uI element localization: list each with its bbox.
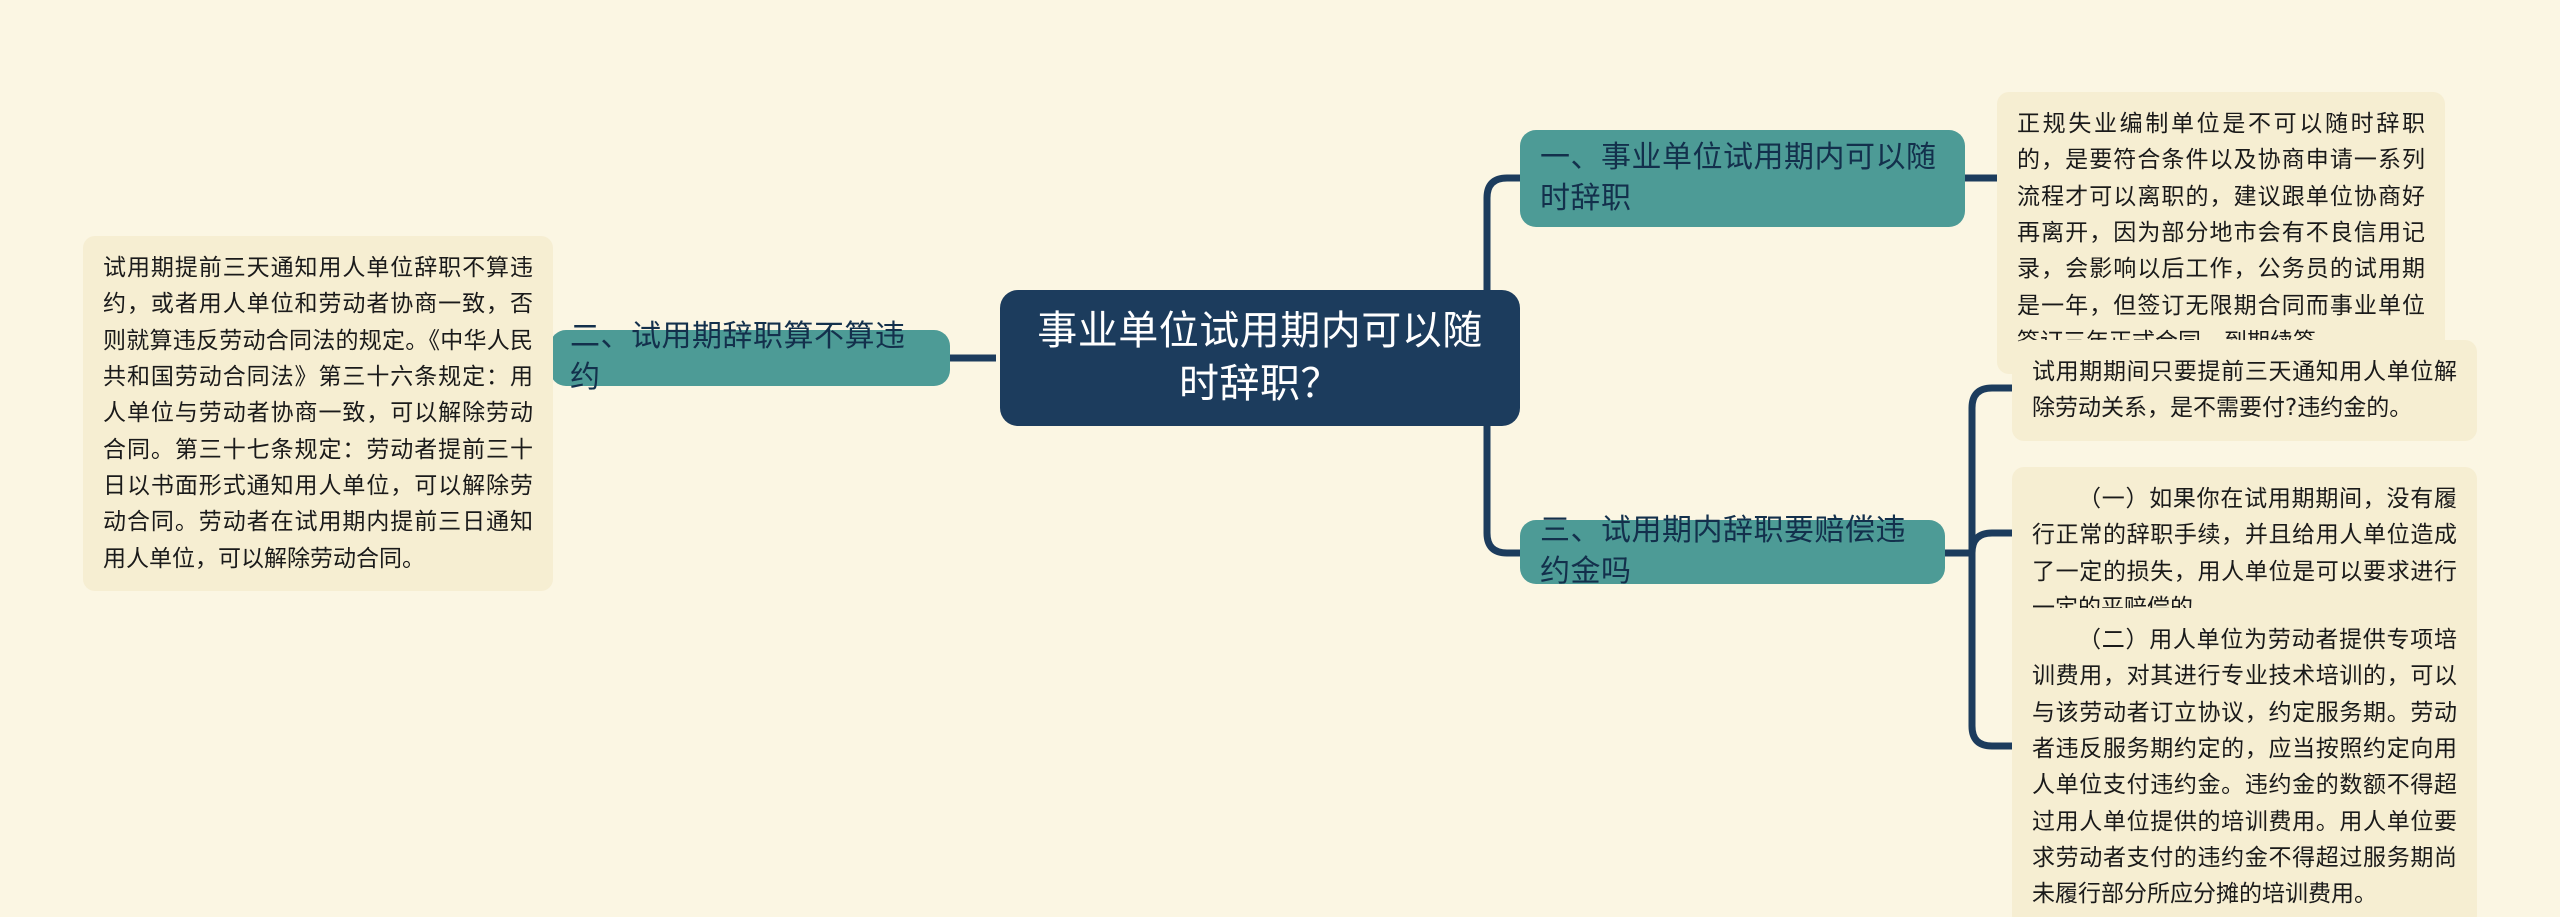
leaf-node-one-1-text: 正规失业编制单位是不可以随时辞职的，是要符合条件以及协商申请一系列流程才可以离职… <box>2017 111 2425 355</box>
branch-node-two[interactable]: 二、试用期辞职算不算违约 <box>550 330 950 386</box>
leaf-node-three-1-text: 试用期期间只要提前三天通知用人单位解除劳动关系，是不需要付?违约金的。 <box>2032 359 2457 421</box>
branch-node-two-label: 二、试用期辞职算不算违约 <box>570 317 930 399</box>
root-node[interactable]: 事业单位试用期内可以随时辞职？ <box>1000 290 1520 426</box>
mindmap-canvas: 事业单位试用期内可以随时辞职？ 一、事业单位试用期内可以随时辞职 正规失业编制单… <box>0 0 2560 917</box>
branch-node-one-label: 一、事业单位试用期内可以随时辞职 <box>1540 138 1945 220</box>
leaf-node-two-1-text: 试用期提前三天通知用人单位辞职不算违约，或者用人单位和劳动者协商一致，否则就算违… <box>103 255 533 572</box>
branch-node-three[interactable]: 三、试用期内辞职要赔偿违约金吗 <box>1520 520 1945 584</box>
leaf-node-three-3[interactable]: （二）用人单位为劳动者提供专项培训费用，对其进行专业技术培训的，可以与该劳动者订… <box>2012 608 2477 917</box>
leaf-node-one-1[interactable]: 正规失业编制单位是不可以随时辞职的，是要符合条件以及协商申请一系列流程才可以离职… <box>1997 92 2445 374</box>
branch-node-one[interactable]: 一、事业单位试用期内可以随时辞职 <box>1520 130 1965 227</box>
leaf-node-two-1[interactable]: 试用期提前三天通知用人单位辞职不算违约，或者用人单位和劳动者协商一致，否则就算违… <box>83 236 553 591</box>
leaf-node-three-1[interactable]: 试用期期间只要提前三天通知用人单位解除劳动关系，是不需要付?违约金的。 <box>2012 340 2477 441</box>
leaf-node-three-3-text: （二）用人单位为劳动者提供专项培训费用，对其进行专业技术培训的，可以与该劳动者订… <box>2032 627 2457 907</box>
branch-node-three-label: 三、试用期内辞职要赔偿违约金吗 <box>1540 511 1925 593</box>
leaf-node-three-2-text: （一）如果你在试用期期间，没有履行正常的辞职手续，并且给用人单位造成了一定的损失… <box>2032 486 2457 621</box>
root-node-label: 事业单位试用期内可以随时辞职？ <box>1026 305 1494 411</box>
